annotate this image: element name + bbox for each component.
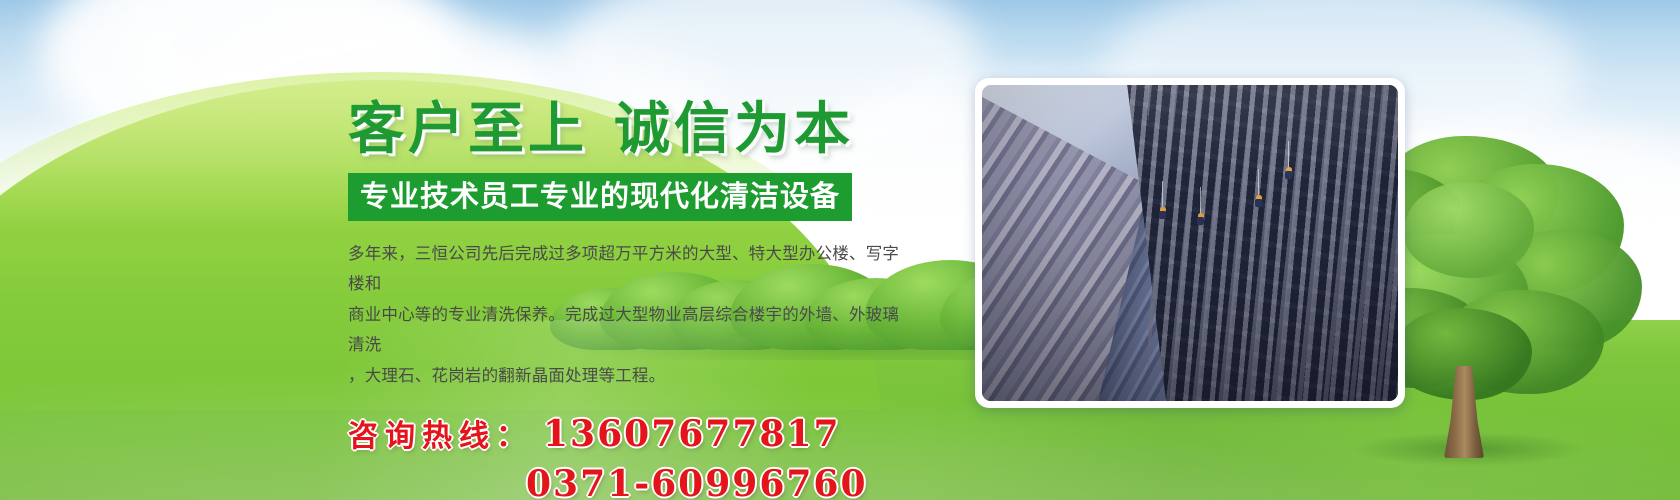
photo-vignette <box>982 85 1398 401</box>
headline-part-1: 客户至上 <box>348 96 588 162</box>
tree-foliage-blob <box>1404 182 1534 278</box>
promo-banner: 客户至上诚信为本 专业技术员工专业的现代化清洁设备 多年来，三恒公司先后完成过多… <box>0 0 1680 500</box>
banner-copy: 客户至上诚信为本 专业技术员工专业的现代化清洁设备 多年来，三恒公司先后完成过多… <box>348 100 968 500</box>
description-paragraph: 多年来，三恒公司先后完成过多项超万平方米的大型、特大型办公楼、写字楼和 商业中心… <box>348 239 908 392</box>
description-line: ，大理石、花岗岩的翻新晶面处理等工程。 <box>348 361 908 392</box>
subtitle-bar: 专业技术员工专业的现代化清洁设备 <box>348 173 852 221</box>
description-line: 多年来，三恒公司先后完成过多项超万平方米的大型、特大型办公楼、写字楼和 <box>348 239 908 300</box>
building-photo <box>982 85 1398 401</box>
headline-part-2: 诚信为本 <box>614 96 854 162</box>
building-photo-card[interactable] <box>975 78 1405 408</box>
hotline-landline-number[interactable]: 0371-60996760 <box>526 463 968 500</box>
hotline-mobile-number[interactable]: 13607677817 <box>543 413 841 455</box>
hotline-label: 咨询热线： <box>348 419 533 454</box>
description-line: 商业中心等的专业清洗保养。完成过大型物业高层综合楼宇的外墙、外玻璃清洗 <box>348 300 908 361</box>
headline: 客户至上诚信为本 <box>348 100 968 159</box>
hotline-row: 咨询热线：13607677817 <box>348 411 968 455</box>
